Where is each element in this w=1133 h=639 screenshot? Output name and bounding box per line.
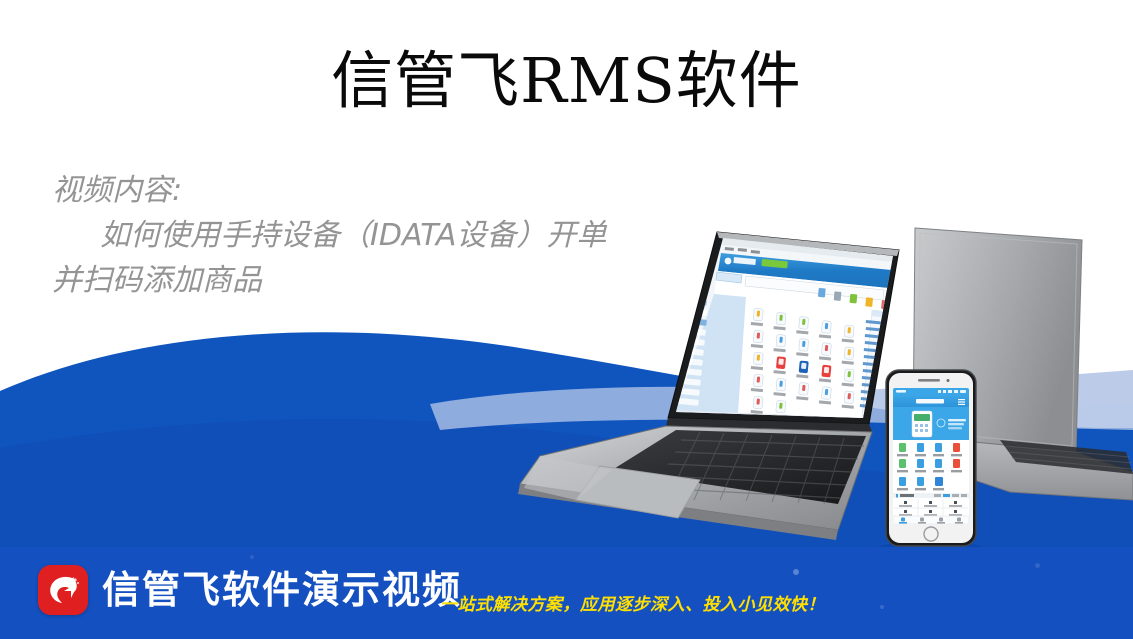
phone-section-title [900, 494, 914, 497]
decor-dot-1 [793, 569, 799, 575]
phone-stat-cells [894, 499, 968, 517]
xgf-bird-logo-icon [38, 565, 88, 615]
phone-status-time [896, 390, 906, 393]
logo-glyph [38, 565, 88, 615]
phone-icon-grid-row3[interactable] [897, 477, 944, 490]
device-mockups [0, 0, 1133, 639]
phone-app-title [916, 399, 944, 404]
phone-hero-screen [914, 414, 930, 421]
phone-camera-icon [947, 379, 950, 382]
phone-screen [893, 388, 969, 524]
decor-dot-2 [880, 605, 884, 609]
phone-hero-text-2 [948, 423, 964, 425]
smartphone [874, 370, 986, 559]
phone-hero-text-3 [948, 427, 962, 429]
laptop-front [518, 230, 910, 540]
phone-menu-icon[interactable] [958, 399, 965, 405]
brand-tagline: 一站式解决方案，应用逐步深入、投入小见效快！ [440, 590, 825, 615]
phone-section-accent [896, 494, 898, 497]
bottom-banner: 信管飞软件演示视频 一站式解决方案，应用逐步深入、投入小见效快！ [0, 547, 1133, 639]
brand-block: 信管飞软件演示视频 [38, 565, 462, 615]
decor-dot-4 [250, 555, 254, 559]
laptop-app-logo-icon [725, 258, 732, 265]
decor-dot-3 [1035, 563, 1040, 568]
phone-earpiece [918, 379, 940, 382]
phone-hero-text-1 [948, 419, 966, 421]
brand-title: 信管飞软件演示视频 [102, 565, 462, 615]
slide-stage: 信管飞RMS软件 视频内容: 如何使用手持设备（IDATA设备）开单 并扫码添加… [0, 0, 1133, 639]
